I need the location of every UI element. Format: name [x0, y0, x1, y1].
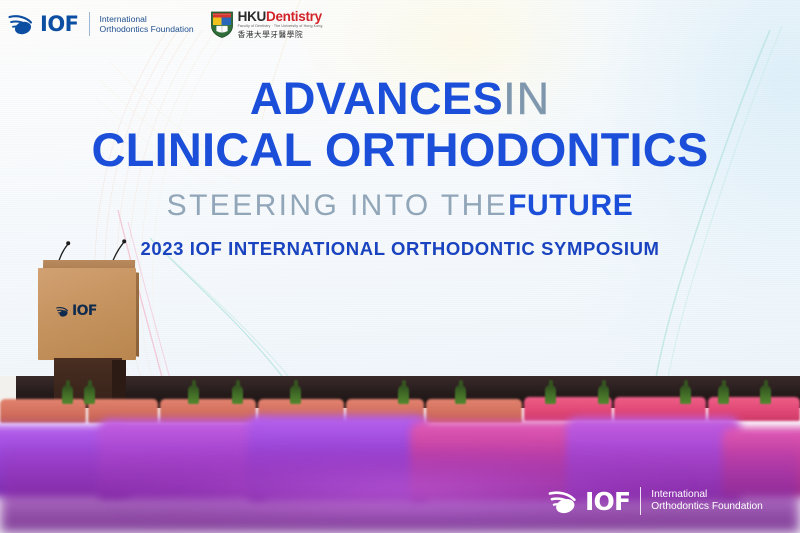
hku-chinese-name: 香港大學牙醫學院 — [238, 31, 323, 39]
hku-name-part2: Dentistry — [266, 9, 322, 24]
water-bottle — [62, 385, 73, 404]
water-bottle — [545, 385, 556, 404]
tagline-steering-into-the: STEERING INTO THE — [167, 189, 508, 222]
backdrop-top-logos: IOF International Orthodontics Foundatio… — [0, 0, 340, 48]
headline-advances: ADVANCES — [250, 73, 503, 124]
water-bottle — [84, 385, 95, 404]
footer-logo-divider — [640, 487, 641, 515]
iof-tagline-line2: Orthodontics Foundation — [100, 24, 194, 34]
water-bottle — [718, 385, 729, 404]
headline-in: IN — [503, 73, 550, 124]
hku-shield-crest-icon — [210, 10, 234, 38]
tagline-future: FUTURE — [508, 189, 633, 222]
water-bottle — [398, 385, 409, 404]
iof-logo-top: IOF International Orthodontics Foundatio… — [8, 12, 194, 36]
podium-iof-logo: IOF — [56, 304, 118, 318]
footer-tagline-line2: Orthodontics Foundation — [651, 501, 763, 513]
symposium-headline-block: ADVANCESIN CLINICAL ORTHODONTICS STEERIN… — [0, 74, 800, 260]
conference-stage-photo: IOF International Orthodontics Foundatio… — [0, 0, 800, 533]
water-bottle — [598, 385, 609, 404]
iof-swoosh-icon — [56, 306, 69, 317]
speaker-podium: IOF — [34, 238, 144, 398]
hku-faculty-line: Faculty of Dentistry · The University of… — [238, 25, 323, 29]
hku-logo-text: HKUDentistry Faculty of Dentistry · The … — [238, 10, 323, 38]
hku-dentistry-logo-top: HKUDentistry Faculty of Dentistry · The … — [210, 10, 323, 38]
iof-tagline-line1: International — [100, 14, 194, 24]
iof-swoosh-icon — [8, 13, 34, 35]
iof-logo-footer: IOF International Orthodontics Foundatio… — [548, 487, 763, 515]
water-bottle — [232, 385, 243, 404]
water-bottle — [680, 385, 691, 404]
hku-wordmark: HKUDentistry — [238, 10, 323, 24]
podium-iof-wordmark: IOF — [72, 304, 97, 318]
iof-logo-divider — [89, 12, 90, 36]
headline-line-2: CLINICAL ORTHODONTICS — [0, 124, 800, 176]
water-bottle — [188, 385, 199, 404]
iof-wordmark: IOF — [40, 14, 79, 35]
footer-tagline-line1: International — [651, 489, 763, 501]
hku-name-part1: HKU — [238, 9, 266, 24]
footer-iof-tagline: International Orthodontics Foundation — [651, 489, 763, 514]
footer-iof-wordmark: IOF — [585, 489, 630, 514]
water-bottle — [760, 385, 771, 404]
iof-swoosh-icon — [548, 489, 578, 514]
water-bottle — [290, 385, 301, 404]
iof-tagline: International Orthodontics Foundation — [100, 14, 194, 35]
headline-tagline: STEERING INTO THEFUTURE — [0, 188, 800, 224]
headline-line-1: ADVANCESIN — [0, 74, 800, 124]
water-bottle — [455, 385, 466, 404]
